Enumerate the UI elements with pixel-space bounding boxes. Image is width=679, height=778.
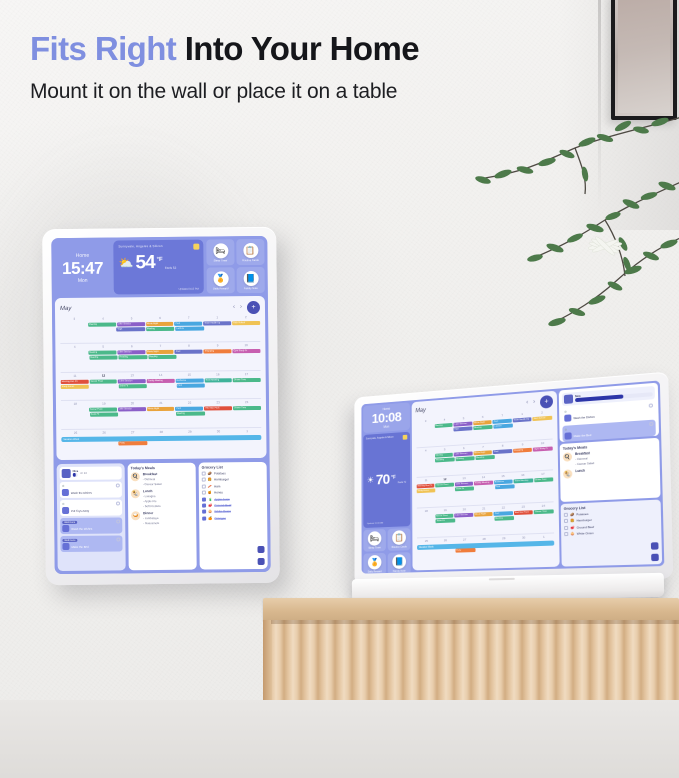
meal-icon: 🌯 — [563, 469, 572, 479]
grocery-item-icon: 🍊 — [208, 516, 212, 520]
chore-badge: Well Done — [62, 520, 77, 523]
chore-item-header: Well Done — [62, 537, 120, 542]
app-tile[interactable]: 🛏Sleep Timer — [363, 529, 386, 552]
grocery-edit-icon[interactable] — [257, 546, 264, 553]
wall-weather-widget[interactable]: Sunnyvale, Angeles & Silicon ⛅ 54 °F Fee… — [113, 240, 204, 295]
calendar-event-spacer — [205, 326, 260, 331]
calendar-event[interactable]: Dinner Time — [534, 509, 554, 514]
sun-cloud-icon: ⛅ — [118, 257, 133, 269]
wall-clock-day: Mon — [78, 277, 88, 283]
grocery-row[interactable]: 🍔Hamburger — [202, 477, 264, 482]
calendar-event[interactable]: Rich School — [232, 321, 260, 325]
avatar — [564, 394, 573, 404]
calendar-event-spacer — [120, 412, 175, 417]
calendar-event[interactable]: Dinner Time — [233, 406, 261, 410]
calendar-event[interactable]: Swim Fit — [90, 413, 119, 417]
grocery-item-icon: 🍯 — [208, 491, 212, 495]
calendar-event[interactable]: Pool — [176, 383, 204, 387]
chore-status-ring[interactable] — [116, 537, 120, 541]
calendar-event[interactable]: Family Meeting — [147, 379, 175, 383]
calendar-event[interactable]: Reading — [148, 355, 177, 359]
calendar-event[interactable]: Lake Session — [117, 351, 145, 355]
calendar-week-row: 2526272829301Vacation WeekParty — [417, 532, 555, 567]
meal-text: Breakfast- Oatmeal- Caesar Salad — [143, 472, 162, 486]
calendar-event-spacer — [417, 519, 435, 524]
grocery-list[interactable]: 🥔Potatoes🍔Hamburger🥓Ham🍯Honey🧃Apple Juic… — [202, 471, 265, 520]
chore-label: Make the Bed — [71, 544, 88, 548]
chore-status-ring[interactable] — [116, 483, 120, 487]
routine-cards-icon: 📋 — [243, 242, 258, 257]
room-scene: Fits Right Into Your Home Mount it on th… — [0, 0, 679, 778]
chores-progress-bar — [73, 473, 79, 477]
meal-block: 🍛Dinner- Jambalaya- Guacamole — [131, 511, 193, 526]
page-headline: Fits Right Into Your Home — [30, 30, 590, 68]
wall-calendar-grid[interactable]: 3456712MeetingLake SessionMovie NightPoo… — [60, 314, 261, 457]
grocery-item-label: Ground Beef — [577, 525, 595, 530]
chores-owner-row[interactable]: Nica 4 / 14 — [60, 466, 122, 480]
grocery-checkbox[interactable] — [202, 484, 206, 488]
grocery-row[interactable]: 🧅White Onion — [564, 529, 658, 536]
meal-block: 🌯Lunch — [563, 465, 657, 479]
meal-block: 🍳Breakfast- Oatmeal- Caesar Salad — [563, 447, 657, 467]
desk-clock-widget[interactable]: Home 10:08 Mon — [363, 402, 410, 432]
calendar-event[interactable]: Gym Study Pr — [233, 349, 261, 353]
chore-icon — [62, 489, 69, 496]
wall-weather-feels: Feels 52 — [165, 266, 177, 270]
grocery-checkbox[interactable] — [564, 526, 568, 530]
calendar-event[interactable]: Barbecue — [176, 378, 204, 382]
routine-cards-icon: 📋 — [392, 530, 406, 545]
calendar-event-line: YogaMeetingLecture — [60, 326, 260, 332]
meals-list: 🍳Breakfast- Oatmeal- Caesar Salad🌯Lunch — [563, 447, 657, 479]
grocery-row[interactable]: 🧃Apple Juice — [202, 496, 264, 501]
calendar-event-spacer — [515, 514, 554, 520]
calendar-event-spacer — [60, 327, 115, 332]
avatar — [62, 469, 71, 478]
grocery-checkbox[interactable] — [564, 513, 568, 517]
calendar-event[interactable]: Soccer Pract — [89, 408, 117, 412]
meal-text: Lunch — [575, 469, 585, 479]
calendar-event[interactable]: Reading — [435, 458, 454, 463]
calendar-event-spacer — [60, 351, 87, 355]
calendar-event[interactable]: Reading — [475, 455, 495, 460]
meal-item: - Apple Pie — [143, 499, 161, 503]
grocery-item-label: Ground Beef — [214, 503, 231, 507]
chore-item[interactable]: ⚙Wash the Dishes — [60, 481, 122, 498]
calendar-event-line: Swim FitMeeting — [61, 411, 261, 417]
calendar-event[interactable]: Meeting — [473, 425, 492, 430]
calendar-event[interactable]: Swim Fit — [455, 487, 474, 492]
app-tile-label: Family Note — [393, 570, 406, 573]
wall-clock-time: 15:47 — [62, 259, 103, 276]
calendar-events: Morning Run PitSoccer PractLake SessionF… — [61, 378, 261, 399]
gear-icon: ⚙ — [564, 410, 567, 414]
gear-icon: ⚙ — [62, 484, 65, 488]
wall-tablet-screen[interactable]: Home 15:47 Mon Sunnyvale, Angeles & Sili… — [51, 236, 271, 574]
desk-meals-panel[interactable]: Today's Meals 🍳Breakfast- Oatmeal- Caesa… — [560, 438, 661, 502]
desk-weather-updated: Updated 10:00 AM — [367, 522, 383, 525]
calendar-event-spacer — [60, 356, 88, 360]
calendar-event[interactable]: Meeting — [88, 322, 116, 326]
calendar-event[interactable]: Morning Run Pit — [61, 380, 89, 384]
calendar-event-spacer — [417, 514, 434, 519]
chore-icon — [62, 507, 69, 514]
grocery-item-icon: 🧃 — [208, 497, 212, 501]
app-tile[interactable]: 📋Routine Cards — [236, 239, 264, 265]
chore-item-body: Wash the Dishes — [62, 488, 120, 496]
chore-label: Wash the Dishes — [71, 526, 92, 530]
grocery-item-icon: 🧅 — [208, 510, 212, 514]
add-event-button[interactable]: + — [540, 394, 553, 408]
grocery-edit-icon[interactable] — [651, 542, 659, 550]
add-event-button[interactable]: + — [247, 300, 260, 313]
chore-icon — [62, 525, 69, 532]
grocery-item-icon: 🧅 — [570, 532, 574, 536]
chore-item[interactable]: Well DoneMake the Bed — [60, 535, 122, 552]
meal-icon: 🍛 — [131, 511, 140, 520]
calendar-event[interactable]: Reading — [89, 356, 118, 360]
meal-name: Dinner — [143, 511, 159, 515]
calendar-event-spacer — [417, 459, 435, 464]
calendar-events: Vacation WeekParty — [417, 540, 555, 566]
calendar-event-spacer — [61, 408, 88, 412]
chore-status-ring[interactable] — [116, 501, 120, 505]
family-note-icon: 📘 — [392, 554, 406, 569]
calendar-event[interactable]: Meeting — [494, 516, 514, 521]
wall-header: Home 15:47 Mon Sunnyvale, Angeles & Sili… — [54, 239, 265, 295]
calendar-events: Vacation WeekParty — [61, 435, 261, 456]
wall-app-shortcuts[interactable]: 🛏Sleep Timer📋Routine Cards🏅Daily Reward📘… — [206, 239, 265, 294]
calendar-event-spacer — [417, 549, 454, 554]
wall-grocery-panel[interactable]: Grocery List 🥔Potatoes🍔Hamburger🥓Ham🍯Hon… — [199, 462, 268, 570]
grocery-checkbox[interactable] — [202, 510, 206, 514]
desk-left-column: Home 10:08 Mon Sunnyvale, Angeles & Sili… — [363, 402, 411, 571]
sleep-timer-icon: 🛏 — [213, 243, 228, 258]
chores-list[interactable]: ⚙Wash the Dishes⚙Put Toys AwayWell DoneW… — [60, 481, 123, 552]
chevron-left-icon[interactable]: ‹ — [233, 304, 235, 310]
desk-calendar-grid[interactable]: 3456712MeetingLake SessionMovie NightPoo… — [416, 409, 554, 568]
chore-item-body: Wash the Dishes — [62, 524, 120, 532]
grocery-item-icon: 🍔 — [570, 519, 574, 523]
grocery-row[interactable]: 🍯Honey — [202, 490, 264, 495]
grocery-checkbox[interactable] — [564, 519, 568, 523]
wall-weather-temp: 54 — [135, 253, 154, 272]
calendar-event[interactable]: Meeting — [176, 412, 205, 416]
calendar-event[interactable]: Dinner Time — [233, 378, 261, 382]
calendar-event[interactable]: Yoga — [116, 327, 145, 331]
grocery-item-label: Hamburger — [214, 478, 229, 482]
meal-item: - Soft Pretzels — [143, 504, 161, 508]
calendar-event[interactable]: Red Star Pack — [204, 406, 232, 410]
calendar-event-line: Study ExtrasSwim FitPool — [61, 383, 261, 389]
desk-calendar-card[interactable]: May ‹ › + 3456712MeetingLake SessionMovi… — [412, 391, 560, 571]
calendar-event[interactable]: Lake Session — [118, 407, 146, 411]
app-tile[interactable]: 📘Family Note — [237, 267, 265, 293]
grocery-checkbox[interactable] — [202, 472, 206, 476]
desk-grocery-panel[interactable]: Grocery List 🥔Potatoes🍔Hamburger🥩Ground … — [561, 500, 662, 567]
desk-tablet-screen[interactable]: Home 10:08 Mon Sunnyvale, Angeles & Sili… — [361, 380, 664, 573]
chores-list[interactable]: ⚙Wash the Dishes⚙Make the Bed — [562, 401, 656, 442]
calendar-event[interactable]: Lake Session — [118, 379, 146, 383]
app-tile-label: Sleep Timer — [368, 546, 380, 549]
grocery-checkbox[interactable] — [202, 491, 206, 495]
calendar-event[interactable]: Study Extras — [61, 385, 89, 389]
grocery-checkbox[interactable] — [564, 532, 568, 536]
calendar-event[interactable]: Lecture — [494, 423, 514, 428]
meal-text: Lunch- Lasagna- Apple Pie- Soft Pretzels — [143, 489, 161, 508]
grocery-item-label: Potatoes — [576, 512, 588, 517]
app-tile[interactable]: 📋Routine Cards — [388, 528, 411, 551]
calendar-event[interactable]: Reading — [119, 356, 148, 360]
calendar-event[interactable]: Pool — [175, 350, 203, 354]
grocery-item-label: Hamburger — [576, 518, 591, 523]
wall-calendar-card[interactable]: May ‹ › + 3456712MeetingLake SessionMovi… — [55, 296, 267, 460]
calendar-event[interactable]: Soccer Pract — [89, 379, 117, 383]
grocery-item-icon: 🥩 — [208, 503, 212, 507]
app-tile-label: Daily Reward — [368, 570, 382, 573]
headline-rest: Into Your Home — [176, 30, 419, 67]
calendar-event[interactable]: Lake Session — [117, 322, 145, 326]
chore-icon — [62, 543, 69, 550]
chevron-left-icon[interactable]: ‹ — [526, 400, 528, 406]
meal-name: Lunch — [575, 469, 585, 474]
calendar-event[interactable]: Movie Night — [146, 350, 174, 354]
calendar-event-spacer — [515, 483, 553, 489]
desk-calendar-month: May — [415, 408, 425, 414]
plant-branch — [455, 86, 679, 406]
grocery-checkbox[interactable] — [202, 478, 206, 482]
grocery-item-icon: 🥩 — [570, 525, 574, 529]
daily-reward-icon: 🏅 — [368, 555, 382, 570]
calendar-event-spacer — [61, 413, 89, 417]
meal-item: - Guacamole — [143, 521, 159, 525]
floor — [0, 700, 679, 778]
calendar-event[interactable]: Party — [455, 548, 475, 553]
chore-item[interactable]: Well DoneWash the Dishes — [60, 517, 122, 534]
desk-right-column: Nica ⚙Wash the Dishes⚙Make the Bed Today… — [559, 383, 662, 567]
wall-clock-widget[interactable]: Home 15:47 Mon — [54, 241, 111, 296]
calendar-events: MeetingLake SessionMovie NightPoolShoppi… — [60, 349, 260, 370]
grocery-row[interactable]: 🥓Ham — [202, 484, 264, 489]
calendar-event-spacer — [436, 488, 454, 493]
calendar-week-row: 18192021222324Soccer PractLake SessionMo… — [61, 398, 261, 428]
calendar-event[interactable]: Pool — [175, 407, 203, 411]
app-tile[interactable]: 🏅Daily Reward — [363, 553, 386, 574]
cabinet-top — [263, 598, 679, 620]
app-tile-label: Sleep Timer — [214, 259, 228, 262]
chore-item-header: ⚙ — [62, 483, 120, 488]
wall-weather-unit: °F — [157, 257, 163, 263]
meal-block: 🌯Lunch- Lasagna- Apple Pie- Soft Pretzel… — [131, 489, 193, 509]
meal-name: Breakfast — [143, 472, 162, 476]
grocery-list[interactable]: 🥔Potatoes🍔Hamburger🥩Ground Beef🧅White On… — [564, 509, 658, 536]
calendar-event-spacer — [178, 354, 261, 359]
desk-weather-main: ☀ 70 °F Feels 72 — [367, 472, 406, 488]
sun-icon: ☀ — [367, 475, 374, 486]
calendar-event-spacer — [90, 384, 117, 388]
app-tile[interactable]: 📘Family Note — [388, 552, 411, 574]
wall-bottom-widgets: Nica 4 / 14 ⚙Wash the Dishes⚙Put Toys Aw… — [57, 462, 268, 571]
meal-item: - Caesar Salad — [575, 461, 594, 466]
chore-status-ring[interactable] — [649, 403, 653, 407]
calendar-event[interactable]: Party — [119, 441, 148, 445]
wall-weather-updated: Updated 3:15 PM — [179, 288, 199, 291]
desk-weather-temp: 70 — [376, 473, 390, 488]
chevron-right-icon[interactable]: › — [533, 399, 535, 405]
calendar-event-spacer — [206, 411, 261, 416]
wall-chores-panel[interactable]: Nica 4 / 14 ⚙Wash the Dishes⚙Put Toys Aw… — [57, 463, 126, 571]
chore-item-body: Make the Bed — [62, 542, 120, 550]
calendar-week-row: 11121314151617Morning Run PitSoccer Prac… — [61, 370, 261, 400]
calendar-event[interactable]: Lecture — [175, 327, 204, 331]
chore-status-ring[interactable] — [116, 519, 120, 523]
grocery-add-icon[interactable] — [258, 558, 265, 565]
calendar-event-line: ReadingReadingReading — [60, 354, 260, 360]
chore-item[interactable]: ⚙Put Toys Away — [60, 499, 122, 516]
headline-accent: Fits Right — [30, 30, 176, 67]
wall-weather-main: ⛅ 54 °F Feels 52 — [118, 253, 198, 273]
grocery-item-label: Potatoes — [214, 471, 226, 475]
desk-calendar-nav[interactable]: ‹ › + — [526, 394, 553, 409]
grocery-row[interactable]: 🥔Potatoes — [202, 471, 264, 476]
chore-label: Make the Bed — [574, 432, 592, 437]
meal-block: 🍳Breakfast- Oatmeal- Caesar Salad — [131, 472, 193, 487]
desk-weather-location: Sunnyvale, Angeles & Silicon — [366, 434, 407, 440]
chore-item-body: Put Toys Away — [62, 506, 120, 514]
chore-label: Put Toys Away — [71, 508, 89, 512]
chore-item-header: ⚙ — [62, 501, 120, 506]
grocery-item-icon: 🍔 — [208, 478, 212, 482]
grocery-checkbox[interactable] — [202, 497, 206, 501]
meal-item: - Lasagna — [143, 494, 161, 498]
calendar-event[interactable]: Meeting — [146, 327, 175, 331]
desk-app-shortcuts[interactable]: 🛏Sleep Timer📋Routine Cards🏅Daily Reward📘… — [363, 528, 410, 572]
meal-item: - Caesar Salad — [143, 482, 162, 486]
calendar-event[interactable]: Swim Fit — [436, 518, 455, 523]
calendar-event-spacer — [456, 517, 493, 522]
meal-text: Dinner- Jambalaya- Guacamole — [143, 511, 159, 525]
calendar-event[interactable]: Team Health Up — [203, 321, 231, 325]
daily-reward-icon: 🏅 — [213, 271, 228, 286]
grocery-row[interactable]: 🍊Oranges — [202, 516, 264, 521]
calendar-event[interactable]: Pool — [495, 485, 515, 490]
grocery-title: Grocery List — [202, 465, 264, 470]
grocery-row[interactable]: 🧅White Onion — [202, 509, 264, 514]
chores-progress-text: 4 / 14 — [80, 472, 87, 475]
calendar-event[interactable]: Reading — [455, 456, 474, 461]
location-pin-icon — [403, 434, 408, 439]
meal-item: - Jambalaya — [143, 516, 159, 520]
calendar-event-spacer — [148, 384, 175, 388]
desk-weather-unit: °F — [391, 475, 396, 481]
app-tile[interactable]: 🛏Sleep Timer — [206, 239, 234, 265]
wall-calendar-month: May — [60, 306, 71, 312]
grocery-checkbox[interactable] — [202, 516, 206, 520]
family-note-icon: 📘 — [243, 270, 258, 285]
grocery-item-icon: 🥓 — [208, 484, 212, 488]
app-tile[interactable]: 🏅Daily Reward — [207, 267, 235, 293]
desk-weather-feels: Feels 72 — [398, 481, 406, 484]
calendar-event-spacer — [61, 441, 117, 446]
wall-meals-panel[interactable]: Today's Meals 🍳Breakfast- Oatmeal- Caesa… — [128, 463, 197, 571]
calendar-event[interactable]: Pool — [175, 322, 203, 326]
calendar-event-spacer — [60, 323, 87, 327]
app-tile-label: Routine Cards — [242, 258, 259, 261]
chore-label: Wash the Dishes — [71, 490, 92, 494]
chevron-right-icon[interactable]: › — [240, 304, 242, 310]
stand-groove — [489, 578, 515, 581]
grocery-item-label: White Onion — [577, 531, 594, 536]
desk-weather-widget[interactable]: Sunnyvale, Angeles & Silicon ☀ 70 °F Fee… — [363, 431, 410, 528]
wall-clock-label: Home — [76, 252, 89, 258]
meals-list: 🍳Breakfast- Oatmeal- Caesar Salad🌯Lunch-… — [131, 472, 194, 526]
meal-icon: 🍳 — [563, 452, 572, 462]
chore-status-ring[interactable] — [649, 422, 653, 426]
meal-icon: 🍳 — [131, 472, 140, 481]
calendar-event[interactable]: Study Extras — [417, 489, 436, 494]
sleep-timer-icon: 🛏 — [368, 531, 382, 546]
meal-icon: 🌯 — [131, 489, 140, 498]
calendar-week-row: 3456712MeetingLake SessionMovie NightPoo… — [60, 314, 260, 343]
chore-icon — [564, 414, 571, 421]
wall-calendar-nav[interactable]: ‹ › + — [233, 300, 260, 313]
meal-name: Lunch — [143, 489, 161, 493]
calendar-event[interactable]: Shopping — [204, 350, 232, 354]
calendar-week-row: 2526272829301Vacation WeekParty — [61, 427, 261, 457]
gear-icon: ⚙ — [564, 428, 567, 432]
calendar-event[interactable]: Team Meeting — [204, 378, 232, 382]
page-subheadline: Mount it on the wall or place it on a ta… — [30, 80, 630, 104]
grocery-item-label: Oranges — [214, 516, 226, 520]
meal-text: Breakfast- Oatmeal- Caesar Salad — [575, 451, 594, 466]
calendar-event-line: Party — [61, 440, 261, 446]
meal-item: - Oatmeal — [143, 477, 162, 481]
calendar-event[interactable]: Movie Night — [146, 322, 174, 326]
calendar-event-spacer — [475, 486, 493, 491]
calendar-event[interactable]: Meeting — [88, 351, 116, 355]
grocery-item-icon: 🥔 — [208, 471, 212, 475]
calendar-week-row: 45678910MeetingLake SessionMovie NightPo… — [60, 341, 260, 371]
desk-chores-panel[interactable]: Nica ⚙Wash the Dishes⚙Make the Bed — [559, 383, 659, 442]
calendar-event-spacer — [149, 440, 262, 445]
calendar-events: MeetingLake SessionMovie NightPoolTeam H… — [60, 321, 260, 342]
calendar-event[interactable]: Yoga — [453, 426, 472, 431]
grocery-item-icon: 🥔 — [570, 513, 574, 517]
app-tile-label: Daily Reward — [213, 287, 228, 290]
calendar-events: Soccer PractLake SessionMovie NightPoolR… — [61, 406, 261, 427]
chore-label: Wash the Dishes — [573, 414, 595, 420]
chore-item-header: Well Done — [62, 519, 120, 524]
calendar-event[interactable]: Swim Fit — [119, 384, 147, 388]
grocery-item-label: Ham — [214, 484, 220, 488]
location-pin-icon — [193, 244, 199, 250]
wall-mounted-tablet[interactable]: Home 15:47 Mon Sunnyvale, Angeles & Sili… — [42, 227, 280, 585]
calendar-week-row: 18192021222324Soccer PractLake SessionMo… — [417, 501, 554, 537]
chore-icon — [565, 432, 572, 439]
grocery-row[interactable]: 🥩Ground Beef — [202, 503, 264, 508]
grocery-add-icon[interactable] — [651, 554, 659, 562]
chore-badge: Well Done — [62, 538, 77, 541]
grocery-item-label: Honey — [214, 491, 223, 495]
wall-weather-location: Sunnyvale, Angeles & Silicon — [118, 244, 198, 249]
app-tile-label: Routine Cards — [392, 546, 407, 549]
gear-icon: ⚙ — [62, 502, 65, 506]
calendar-event[interactable]: Movie Night — [147, 407, 175, 411]
calendar-event-spacer — [206, 383, 261, 388]
desk-tablet[interactable]: Home 10:08 Mon Sunnyvale, Angeles & Sili… — [354, 372, 673, 586]
grocery-checkbox[interactable] — [202, 503, 206, 507]
grocery-item-label: White Onion — [214, 510, 231, 514]
